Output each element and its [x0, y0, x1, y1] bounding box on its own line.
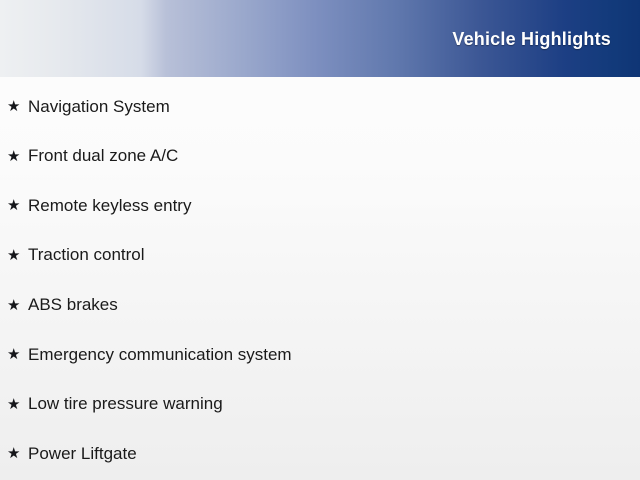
star-bullet-icon: ★	[7, 397, 28, 412]
highlight-label: Front dual zone A/C	[28, 146, 178, 166]
highlight-label: Power Liftgate	[28, 444, 137, 464]
list-item: ★ Traction control	[0, 231, 640, 281]
highlight-label: Low tire pressure warning	[28, 394, 223, 414]
highlight-label: ABS brakes	[28, 295, 118, 315]
list-item: ★ Remote keyless entry	[0, 181, 640, 231]
vehicle-highlights-slide: Vehicle Highlights ★ Navigation System ★…	[0, 0, 640, 480]
list-item: ★ Navigation System	[0, 82, 640, 132]
star-bullet-icon: ★	[7, 198, 28, 213]
page-title: Vehicle Highlights	[452, 29, 611, 50]
star-bullet-icon: ★	[7, 446, 28, 461]
star-bullet-icon: ★	[7, 298, 28, 313]
vehicle-highlights-list: ★ Navigation System ★ Front dual zone A/…	[0, 82, 640, 479]
star-bullet-icon: ★	[7, 347, 28, 362]
header-banner: Vehicle Highlights	[0, 0, 640, 77]
highlight-label: Navigation System	[28, 97, 170, 117]
highlight-label: Traction control	[28, 245, 145, 265]
star-bullet-icon: ★	[7, 149, 28, 164]
list-item: ★ Emergency communication system	[0, 330, 640, 380]
list-item: ★ Low tire pressure warning	[0, 380, 640, 430]
highlight-label: Remote keyless entry	[28, 196, 191, 216]
star-bullet-icon: ★	[7, 99, 28, 114]
list-item: ★ Front dual zone A/C	[0, 132, 640, 182]
list-item: ★ ABS brakes	[0, 280, 640, 330]
list-item: ★ Power Liftgate	[0, 429, 640, 479]
star-bullet-icon: ★	[7, 248, 28, 263]
highlight-label: Emergency communication system	[28, 345, 292, 365]
